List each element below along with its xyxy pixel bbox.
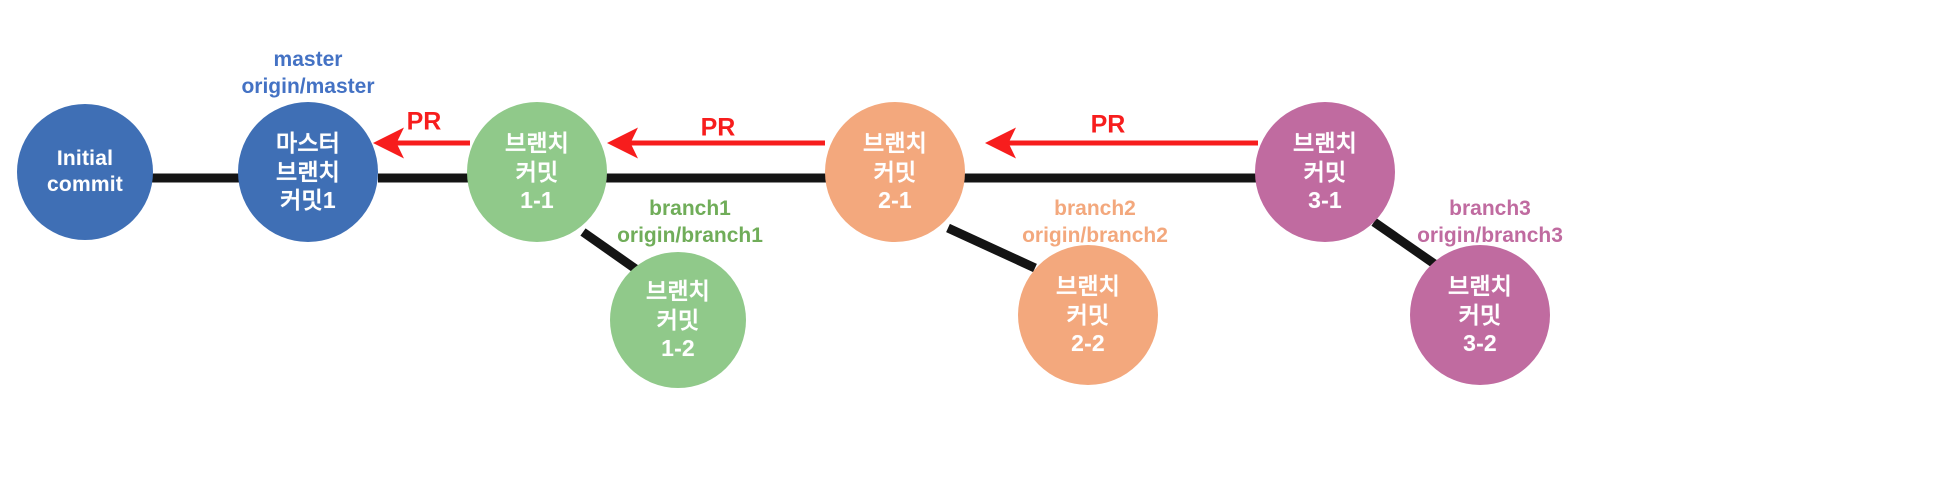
ref-label-line: origin/branch1 [617, 223, 763, 250]
ref-label-branch1-refs: branch1origin/branch1 [617, 196, 763, 250]
ref-label-line: branch2 [1022, 196, 1168, 223]
commit-node-initial-commit[interactable] [17, 104, 153, 240]
ref-label-master-refs: masterorigin/master [241, 47, 374, 101]
commit-node-branch-commit-1-2[interactable] [610, 252, 746, 388]
ref-label-line: origin/branch2 [1022, 223, 1168, 250]
commit-node-branch-commit-1-1[interactable] [467, 102, 607, 242]
commit-node-branch-commit-3-2[interactable] [1410, 245, 1550, 385]
ref-label-line: origin/master [241, 74, 374, 101]
commit-node-branch-commit-3-1[interactable] [1255, 102, 1395, 242]
ref-label-line: branch1 [617, 196, 763, 223]
pr-label-pr-branch2-to-master: PR [701, 114, 736, 143]
pr-label-pr-branch3-to-master: PR [1091, 111, 1126, 140]
ref-label-line: origin/branch3 [1417, 223, 1563, 250]
commit-node-branch-commit-2-1[interactable] [825, 102, 965, 242]
commit-node-branch-commit-2-2[interactable] [1018, 245, 1158, 385]
ref-label-line: branch3 [1417, 196, 1563, 223]
git-branching-diagram: Initialcommit마스터브랜치커밋1브랜치커밋1-1브랜치커밋1-2브랜… [0, 0, 1940, 498]
ref-label-branch3-refs: branch3origin/branch3 [1417, 196, 1563, 250]
ref-label-branch2-refs: branch2origin/branch2 [1022, 196, 1168, 250]
commit-node-master-commit-1[interactable] [238, 102, 378, 242]
pr-label-pr-branch1-to-master: PR [407, 108, 442, 137]
ref-label-line: master [241, 47, 374, 74]
